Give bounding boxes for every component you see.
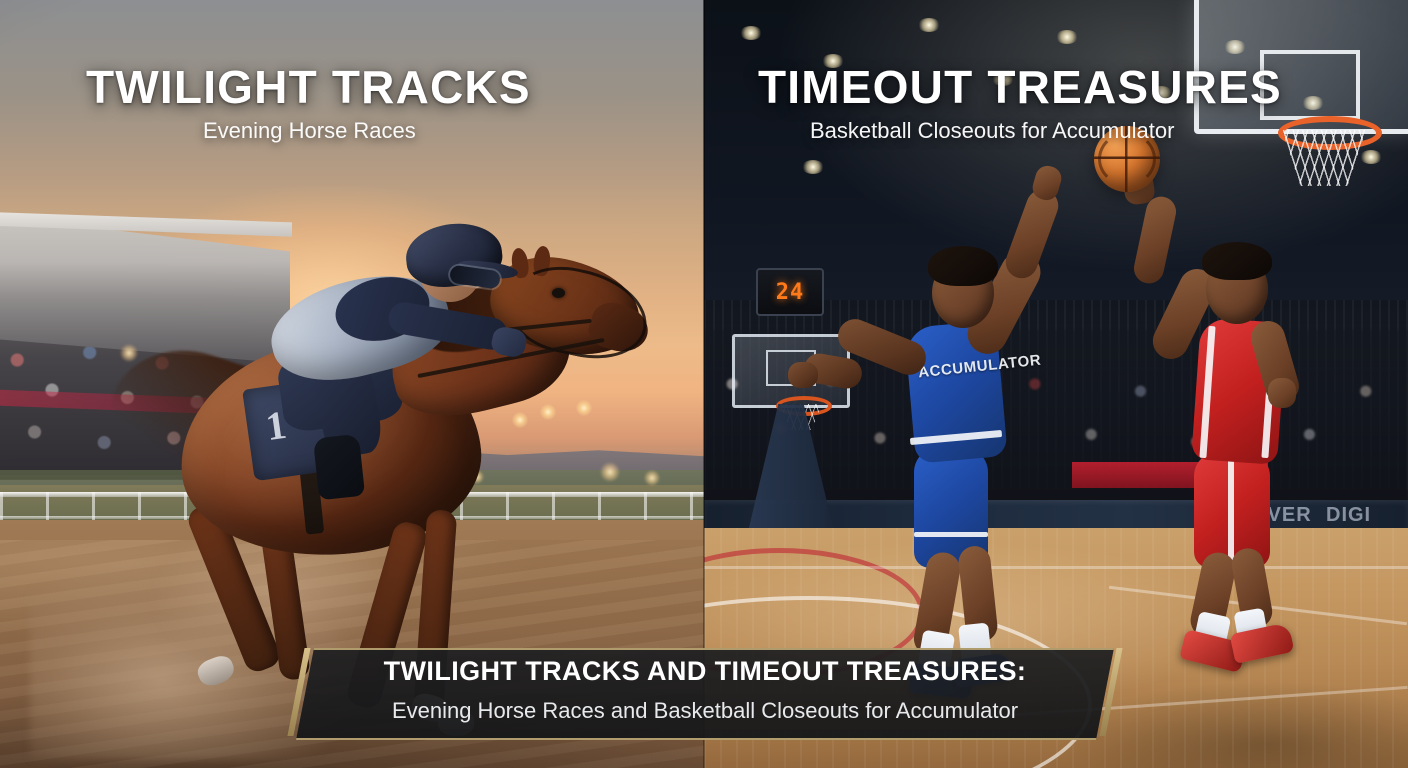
- ceiling-light-icon: [740, 26, 762, 40]
- right-panel-title: TIMEOUT TREASURES: [758, 60, 1282, 114]
- ceiling-light-icon: [918, 18, 940, 32]
- right-panel-subtitle: Basketball Closeouts for Accumulator: [810, 118, 1174, 144]
- bokeh-light: [600, 462, 620, 482]
- blue-player-hand: [788, 362, 818, 388]
- player-red-shooter: [1130, 170, 1380, 640]
- banner-subtitle: Evening Horse Races and Basketball Close…: [296, 698, 1114, 724]
- left-panel-subtitle: Evening Horse Races: [203, 118, 416, 144]
- blue-shorts-stripe: [914, 532, 988, 537]
- jockey-boot: [313, 434, 365, 500]
- banner-title: TWILIGHT TRACKS AND TIMEOUT TREASURES:: [296, 656, 1114, 687]
- player-blue-accumulator: ACCUMULATOR: [810, 180, 1110, 650]
- blue-player-forearm-raised: [1001, 185, 1063, 282]
- red-player-hand: [1268, 378, 1296, 408]
- racehorse-and-jockey: 1: [120, 150, 590, 670]
- bokeh-light: [644, 470, 660, 486]
- ceiling-light-icon: [802, 160, 824, 174]
- promo-banner-image: 1: [0, 0, 1408, 768]
- ceiling-light-icon: [1056, 30, 1078, 44]
- red-player-hair: [1202, 242, 1272, 280]
- red-shorts-stripe: [1228, 454, 1234, 566]
- left-panel-title: TWILIGHT TRACKS: [86, 60, 531, 114]
- blue-player-hair: [928, 246, 998, 286]
- red-player-forearm-shooting: [1131, 194, 1179, 286]
